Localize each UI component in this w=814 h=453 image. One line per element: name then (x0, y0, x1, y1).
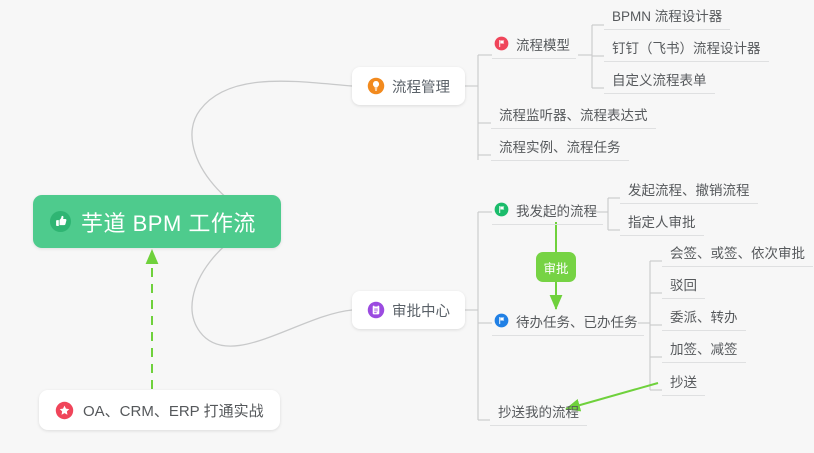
leaf-item[interactable]: 委派、转办 (662, 307, 746, 331)
root-label: 芋道 BPM 工作流 (81, 206, 256, 238)
branch-node-approval-center[interactable]: 审批中心 (352, 291, 465, 329)
thumbs-up-icon (49, 210, 72, 233)
node-label: 流程模型 (516, 34, 570, 54)
leaf-item[interactable]: 发起流程、撤销流程 (620, 180, 758, 204)
star-icon (55, 401, 74, 420)
leaf-item[interactable]: 抄送我的流程 (490, 402, 587, 426)
clipboard-icon (367, 301, 385, 319)
mindmap-canvas: 芋道 BPM 工作流 流程管理 流程模型 BPMN 流程设计器 钉钉（飞书）流程… (0, 0, 814, 453)
bottom-card-label: OA、CRM、ERP 打通实战 (83, 400, 264, 421)
flag-icon (494, 36, 509, 51)
leaf-item[interactable]: 抄送 (662, 372, 705, 396)
leaf-item[interactable]: 自定义流程表单 (604, 70, 715, 94)
leaf-item[interactable]: 会签、或签、依次审批 (662, 243, 813, 267)
node-label: 待办任务、已办任务 (516, 311, 638, 331)
annotation-chip-label: 审批 (543, 258, 568, 277)
node-todo-done-tasks[interactable]: 待办任务、已办任务 (492, 310, 644, 336)
node-my-initiated-processes[interactable]: 我发起的流程 (492, 199, 603, 225)
leaf-item[interactable]: BPMN 流程设计器 (604, 6, 730, 30)
leaf-item[interactable]: 流程实例、流程任务 (491, 137, 629, 161)
leaf-item[interactable]: 驳回 (662, 275, 705, 299)
branch-label: 流程管理 (392, 76, 450, 97)
node-process-model[interactable]: 流程模型 (492, 33, 576, 59)
annotation-chip-approval: 审批 (536, 252, 576, 282)
leaf-item[interactable]: 加签、减签 (662, 339, 746, 363)
leaf-item[interactable]: 指定人审批 (620, 212, 704, 236)
root-node[interactable]: 芋道 BPM 工作流 (33, 195, 281, 248)
node-label: 我发起的流程 (516, 200, 597, 220)
branch-node-process-management[interactable]: 流程管理 (352, 67, 465, 105)
flag-icon (494, 202, 509, 217)
flag-icon (494, 313, 509, 328)
leaf-item[interactable]: 流程监听器、流程表达式 (491, 105, 656, 129)
bottom-card-integration[interactable]: OA、CRM、ERP 打通实战 (39, 390, 280, 430)
branch-label: 审批中心 (392, 300, 450, 321)
lightbulb-icon (367, 77, 385, 95)
leaf-item[interactable]: 钉钉（飞书）流程设计器 (604, 38, 769, 62)
